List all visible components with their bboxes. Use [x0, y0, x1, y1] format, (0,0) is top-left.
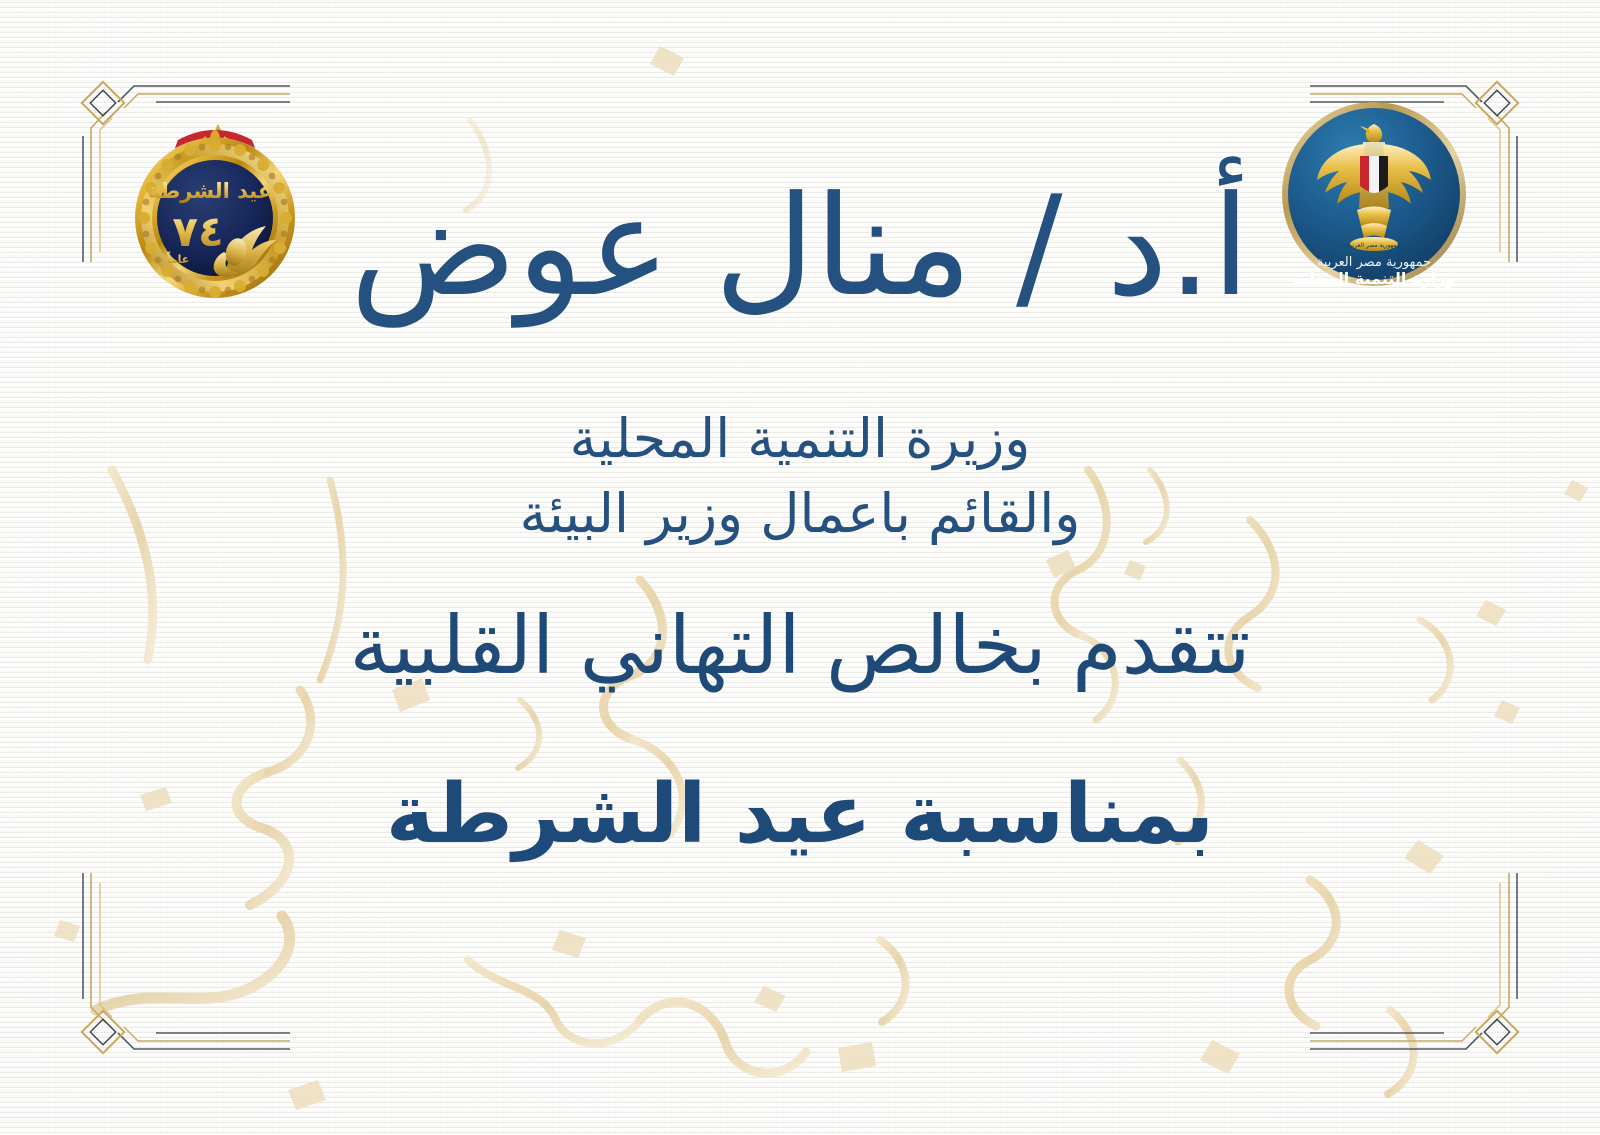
minister-name: أ.د / منال عوض	[0, 178, 1600, 316]
greeting-text: تتقدم بخالص التهاني القلبية	[0, 604, 1600, 688]
minister-role-line-1: وزيرة التنمية المحلية	[0, 412, 1600, 466]
greeting-card: عيد الشرطة ٧٤ عاماً	[0, 0, 1600, 1135]
occasion-text: بمناسبة عيد الشرطة	[0, 772, 1600, 858]
card-content: أ.د / منال عوض وزيرة التنمية المحلية وال…	[0, 0, 1600, 1135]
minister-role-line-2: والقائم باعمال وزير البيئة	[0, 487, 1600, 541]
